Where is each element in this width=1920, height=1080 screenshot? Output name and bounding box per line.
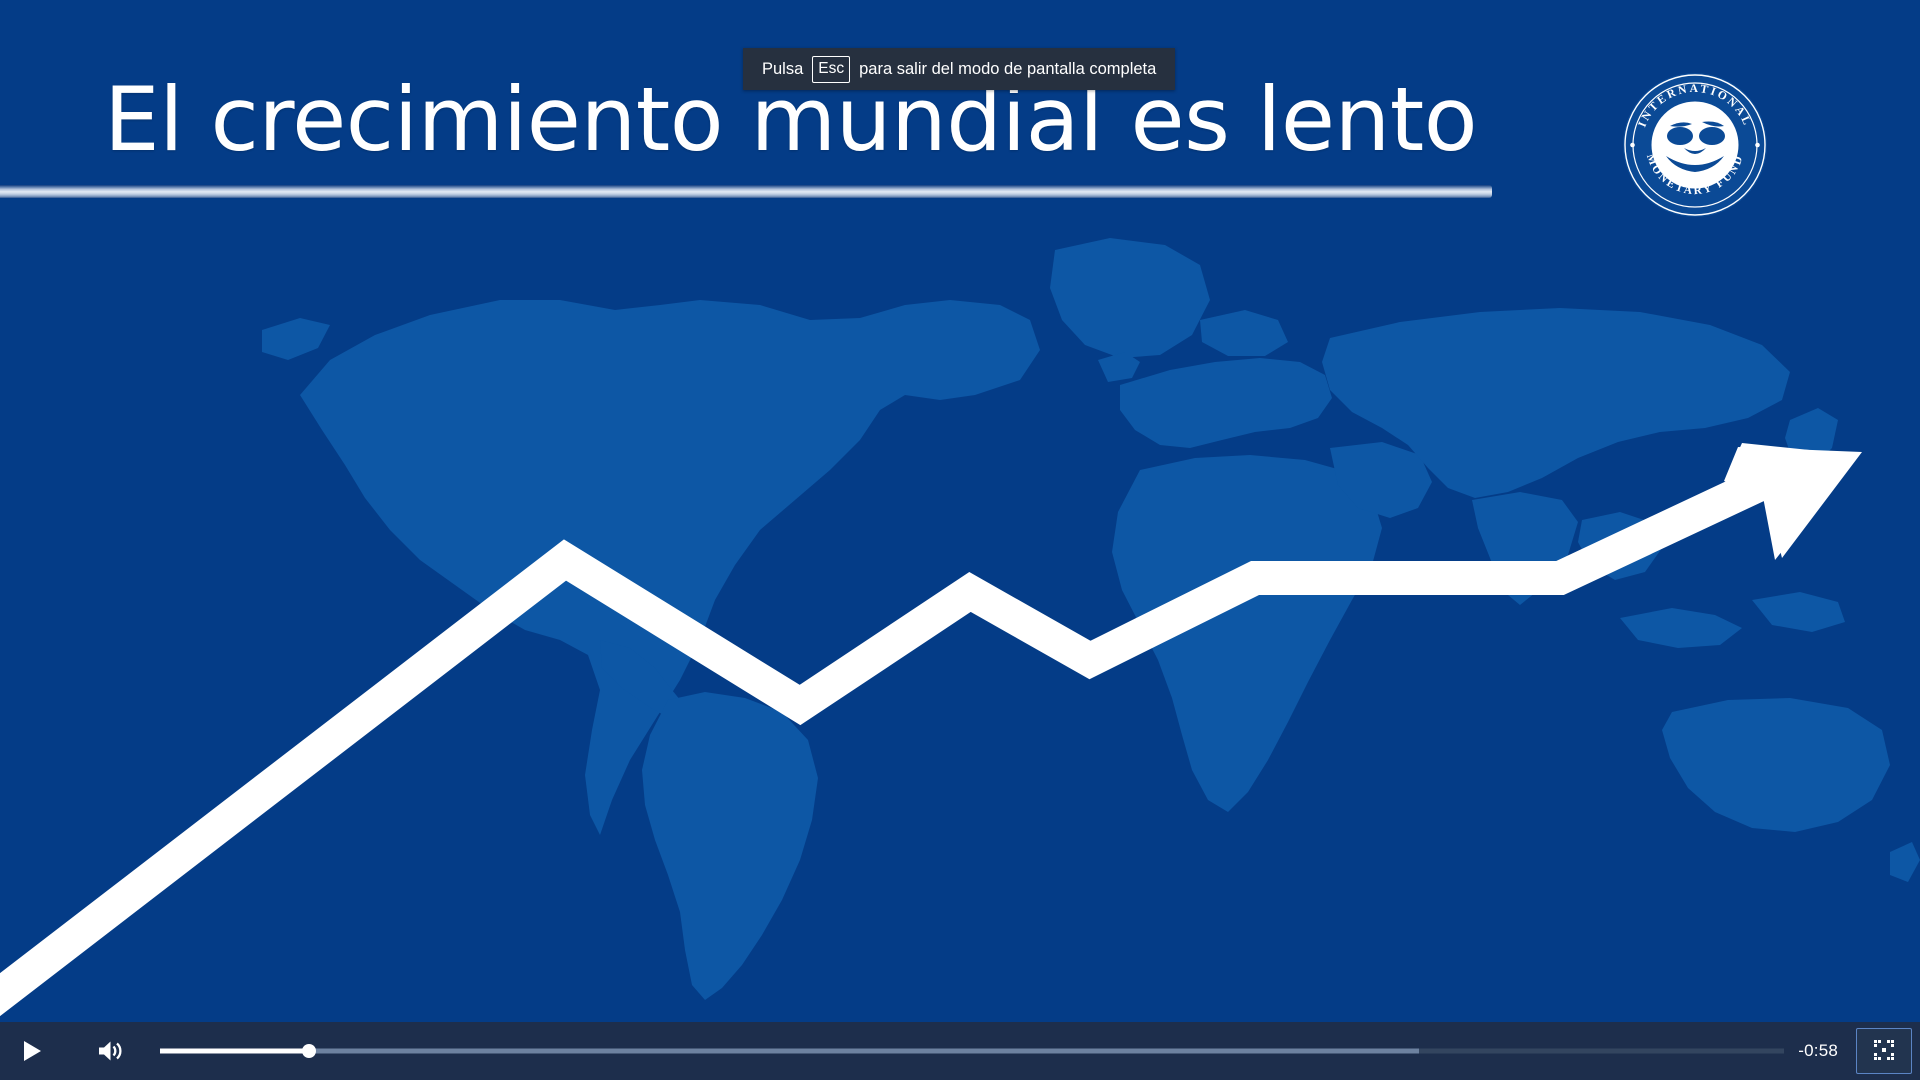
esc-key-badge: Esc [812, 56, 850, 83]
fullscreen-video-player: El crecimiento mundial es lento [0, 0, 1920, 1080]
toast-suffix-text: para salir del modo de pantalla completa [859, 60, 1156, 79]
fullscreen-exit-toast: Pulsa Esc para salir del modo de pantall… [743, 48, 1175, 90]
toast-prefix-text: Pulsa [762, 60, 803, 79]
play-icon [22, 1040, 42, 1062]
video-surface[interactable]: El crecimiento mundial es lento [0, 0, 1920, 1022]
exit-fullscreen-icon [1873, 1039, 1895, 1064]
title-underline-rule [0, 185, 1492, 198]
time-remaining-label: -0:58 [1798, 1041, 1838, 1061]
progress-handle[interactable] [302, 1044, 316, 1058]
volume-button[interactable] [82, 1022, 138, 1080]
imf-seal-logo: INTERNATIONAL MONETARY FUND [1620, 70, 1770, 220]
volume-icon [97, 1039, 123, 1063]
exit-fullscreen-button[interactable] [1856, 1028, 1912, 1074]
video-control-bar: -0:58 [0, 1022, 1920, 1080]
progress-scrubber[interactable] [160, 1022, 1784, 1080]
progress-buffered [160, 1049, 1419, 1054]
play-button[interactable] [4, 1022, 60, 1080]
progress-played [160, 1049, 309, 1054]
